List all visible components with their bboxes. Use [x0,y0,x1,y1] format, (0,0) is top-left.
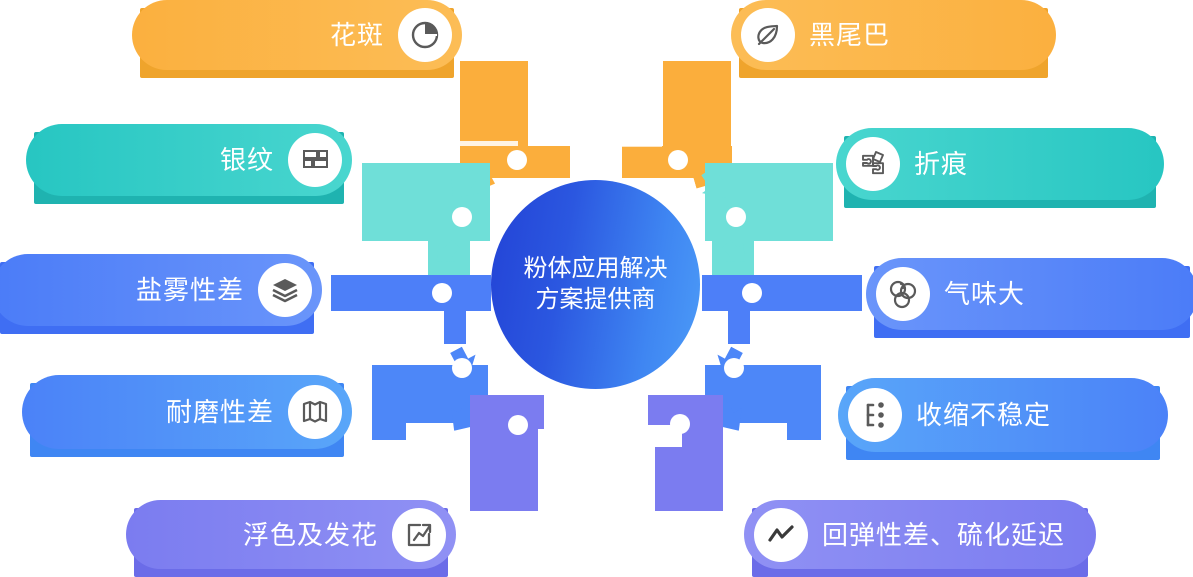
connector-node [724,358,744,378]
connector-node [670,414,690,434]
sitemap-icon [848,388,902,442]
layers-icon [258,263,312,317]
node-label: 收缩不稳定 [916,402,1051,428]
node-pill-yinwen[interactable]: 银纹 [26,124,352,204]
chart-arrow-up-icon [392,508,446,562]
node-label: 银纹 [220,147,274,173]
node-pill-heiweiba[interactable]: 黑尾巴 [731,0,1056,78]
node-label: 盐雾性差 [136,277,244,303]
connector-node [508,415,528,435]
node-label: 气味大 [944,281,1025,307]
recycle-icon [876,267,930,321]
brick-wall-icon [288,133,342,187]
node-pill-yanwuxingcha[interactable]: 盐雾性差 [0,254,322,334]
connector-node [452,207,472,227]
node-label: 浮色及发花 [243,522,378,548]
connector-node [452,358,472,378]
node-pill-huitanxingcha[interactable]: 回弹性差、硫化延迟 [744,500,1096,577]
connector-node [507,150,527,170]
node-pill-shousuobuwending[interactable]: 收缩不稳定 [838,378,1168,460]
node-pill-qiweida[interactable]: 气味大 [866,258,1193,338]
node-pill-naimoxingcha[interactable]: 耐磨性差 [22,375,352,457]
leaf-icon [741,8,795,62]
line-chart-icon [754,508,808,562]
node-pill-fusejifahua[interactable]: 浮色及发花 [126,500,456,577]
connector-node [742,283,762,303]
node-label: 折痕 [914,151,968,177]
center-hub-label: 粉体应用解决 方案提供商 [524,254,668,315]
node-label: 耐磨性差 [166,399,274,425]
node-label: 回弹性差、硫化延迟 [822,522,1065,548]
connector-node [668,150,688,170]
node-pill-huaban[interactable]: 花斑 [132,0,462,78]
puzzle-piece-icon [846,137,900,191]
center-hub: 粉体应用解决 方案提供商 [491,180,700,389]
connector-node [432,283,452,303]
pie-chart-icon [398,8,452,62]
connector-node [726,207,746,227]
node-label: 黑尾巴 [809,22,890,48]
infographic-canvas: 粉体应用解决 方案提供商 花斑 [0,0,1193,577]
node-pill-zhehen[interactable]: 折痕 [836,128,1164,208]
open-book-icon [288,385,342,439]
node-label: 花斑 [330,22,384,48]
